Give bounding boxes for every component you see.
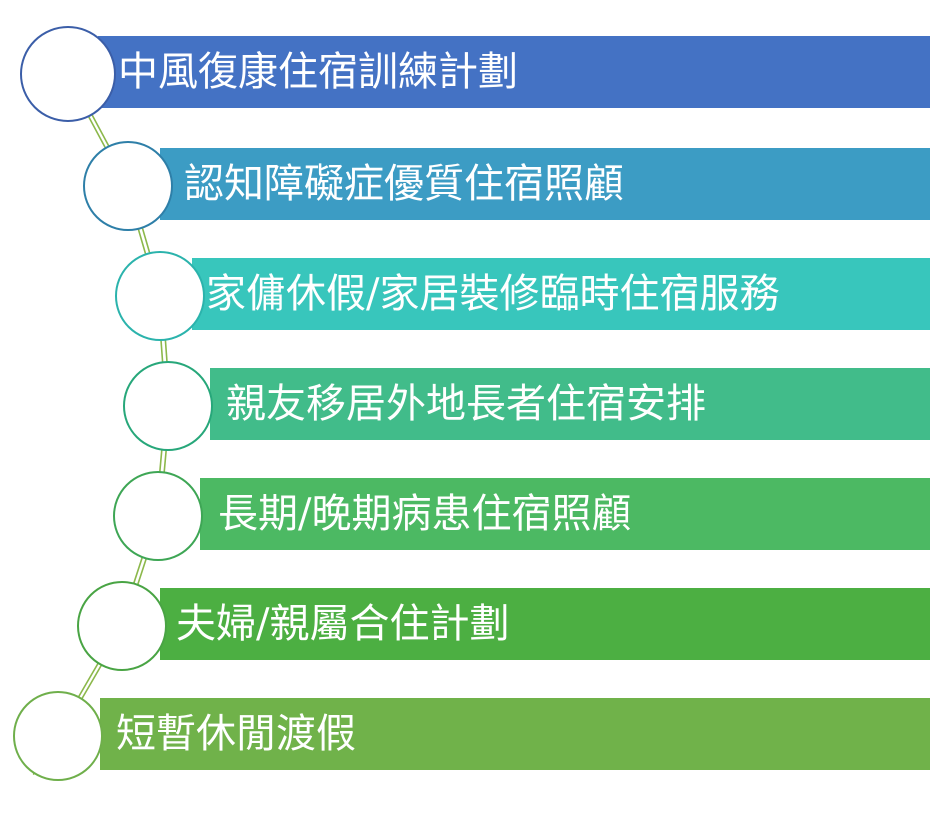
row-bar[interactable]: 夫婦/親屬合住計劃: [160, 588, 930, 660]
row-label: 親友移居外地長者住宿安排: [226, 384, 706, 424]
row-label: 長期/晚期病患住宿照顧: [218, 494, 631, 534]
row-label: 家傭休假/家居裝修臨時住宿服務: [206, 274, 779, 314]
row-bar[interactable]: 長期/晚期病患住宿照顧: [200, 478, 930, 550]
row-node-circle[interactable]: [113, 471, 203, 561]
row-bar[interactable]: 認知障礙症優質住宿照顧: [160, 148, 930, 220]
row-node-circle[interactable]: [20, 26, 116, 122]
row-label: 夫婦/親屬合住計劃: [176, 604, 509, 644]
row-node-circle[interactable]: [123, 361, 213, 451]
row-node-circle[interactable]: [13, 691, 103, 781]
row-bar[interactable]: 短暫休閒渡假: [100, 698, 930, 770]
row-bar[interactable]: 家傭休假/家居裝修臨時住宿服務: [192, 258, 930, 330]
diagram-canvas: 中風復康住宿訓練計劃認知障礙症優質住宿照顧家傭休假/家居裝修臨時住宿服務親友移居…: [0, 0, 942, 813]
row-bar[interactable]: 親友移居外地長者住宿安排: [210, 368, 930, 440]
row-label: 中風復康住宿訓練計劃: [118, 52, 518, 92]
row-bar[interactable]: 中風復康住宿訓練計劃: [98, 36, 930, 108]
row-label: 認知障礙症優質住宿照顧: [184, 164, 624, 204]
row-node-circle[interactable]: [115, 251, 205, 341]
row-node-circle[interactable]: [77, 581, 167, 671]
row-node-circle[interactable]: [83, 141, 173, 231]
row-label: 短暫休閒渡假: [116, 714, 356, 754]
